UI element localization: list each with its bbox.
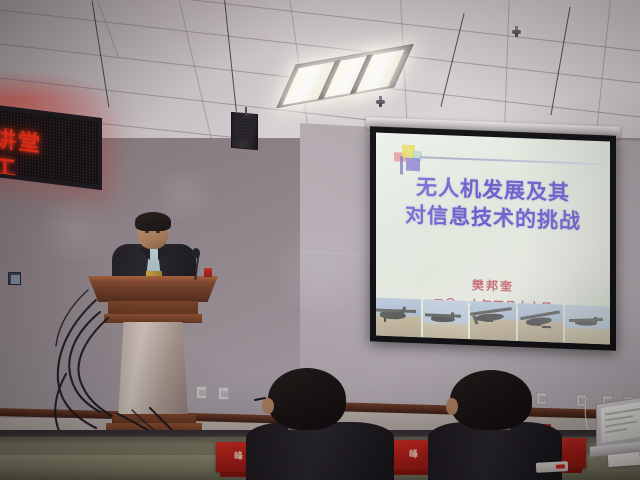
audience-left-hair (268, 368, 346, 430)
presentation-remote[interactable] (536, 461, 568, 473)
presenter-laptop[interactable] (590, 400, 640, 462)
audience-member-left (246, 368, 394, 480)
audience-right-hair (450, 370, 532, 430)
audience-left-jacket (246, 422, 394, 480)
lecture-hall-photo: 思大讲堂 北理工 无人机发展及其 对信息技术的挑战 樊邦奎 二〇一六年四月十六日 (0, 0, 640, 480)
